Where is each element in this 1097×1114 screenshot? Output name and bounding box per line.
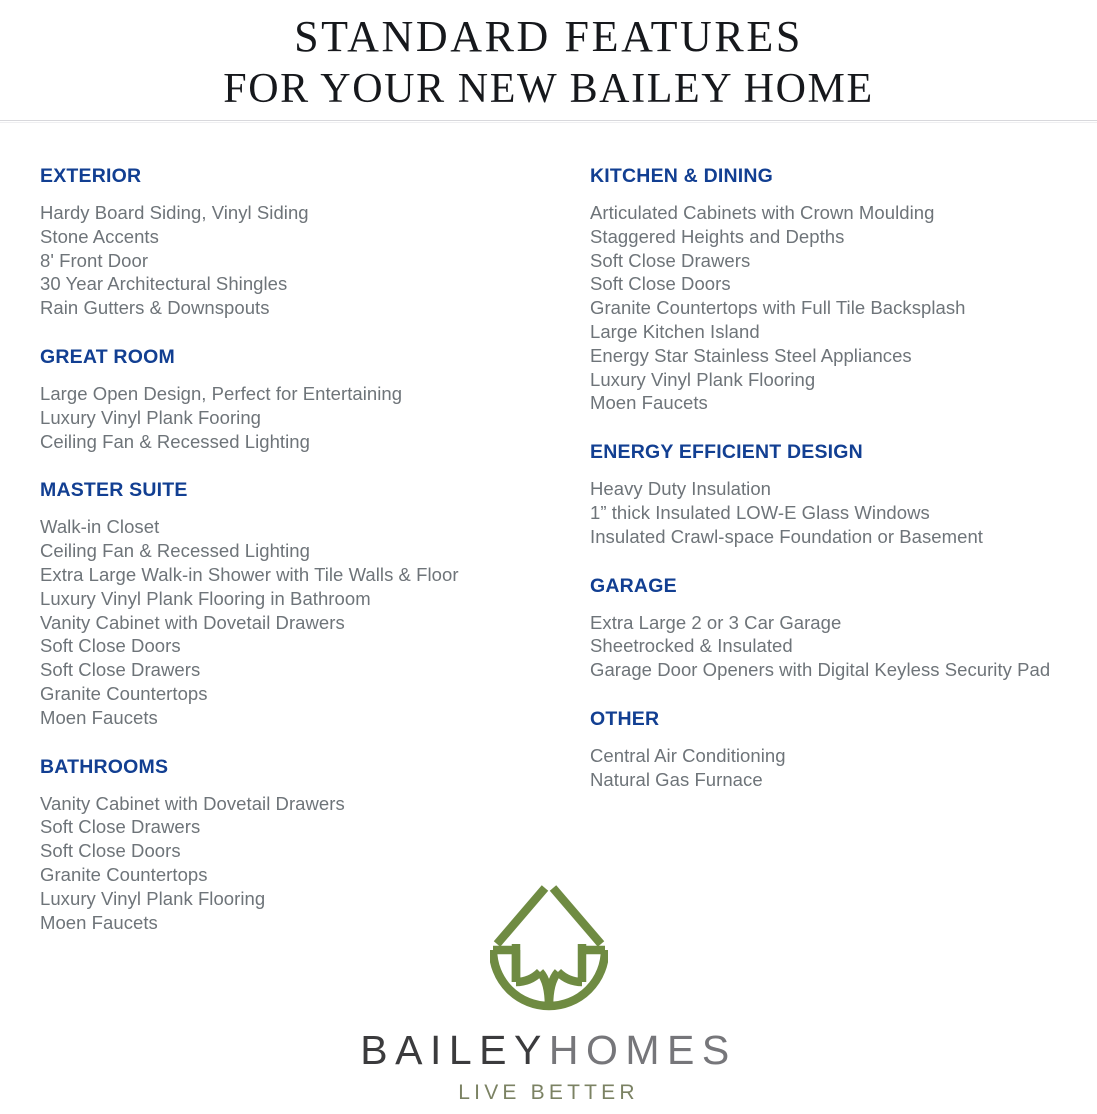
feature-section: MASTER SUITEWalk-in ClosetCeiling Fan & … xyxy=(40,479,570,729)
feature-item: Heavy Duty Insulation xyxy=(590,477,1080,501)
section-heading-exterior: EXTERIOR xyxy=(40,165,570,187)
feature-item: Soft Close Doors xyxy=(590,272,1080,296)
feature-item: Luxury Vinyl Plank Flooring in Bathroom xyxy=(40,587,570,611)
section-heading-energy-efficient-design: ENERGY EFFICIENT DESIGN xyxy=(590,441,1080,463)
feature-section: OTHERCentral Air ConditioningNatural Gas… xyxy=(590,708,1080,792)
feature-item: Central Air Conditioning xyxy=(590,744,1080,768)
feature-item: Soft Close Drawers xyxy=(590,249,1080,273)
section-heading-master-suite: MASTER SUITE xyxy=(40,479,570,501)
feature-list: Central Air ConditioningNatural Gas Furn… xyxy=(590,744,1080,792)
feature-item: Energy Star Stainless Steel Appliances xyxy=(590,344,1080,368)
bailey-homes-house-leaf-icon xyxy=(490,878,608,1014)
feature-item: Insulated Crawl-space Foundation or Base… xyxy=(590,525,1080,549)
feature-item: Luxury Vinyl Plank Flooring xyxy=(590,368,1080,392)
feature-item: Walk-in Closet xyxy=(40,515,570,539)
feature-item: Hardy Board Siding, Vinyl Siding xyxy=(40,201,570,225)
page-title-line-2: FOR YOUR NEW BAILEY HOME xyxy=(223,64,874,114)
feature-list: Large Open Design, Perfect for Entertain… xyxy=(40,382,570,453)
feature-section: GREAT ROOMLarge Open Design, Perfect for… xyxy=(40,346,570,453)
feature-item: Rain Gutters & Downspouts xyxy=(40,296,570,320)
feature-item: Garage Door Openers with Digital Keyless… xyxy=(590,658,1080,682)
section-heading-other: OTHER xyxy=(590,708,1080,730)
header-divider xyxy=(0,120,1097,121)
feature-item: 30 Year Architectural Shingles xyxy=(40,272,570,296)
section-heading-great-room: GREAT ROOM xyxy=(40,346,570,368)
feature-list: Extra Large 2 or 3 Car GarageSheetrocked… xyxy=(590,611,1080,682)
feature-item: Luxury Vinyl Plank Fooring xyxy=(40,406,570,430)
feature-section: EXTERIORHardy Board Siding, Vinyl Siding… xyxy=(40,165,570,320)
wordmark-bailey: BAILEY xyxy=(360,1028,549,1072)
features-column-left: EXTERIORHardy Board Siding, Vinyl Siding… xyxy=(40,165,570,934)
section-heading-bathrooms: BATHROOMS xyxy=(40,756,570,778)
feature-item: Stone Accents xyxy=(40,225,570,249)
feature-item: Large Kitchen Island xyxy=(590,320,1080,344)
feature-item: Extra Large Walk-in Shower with Tile Wal… xyxy=(40,563,570,587)
feature-list: Walk-in ClosetCeiling Fan & Recessed Lig… xyxy=(40,515,570,729)
feature-item: Moen Faucets xyxy=(590,391,1080,415)
page-title-line-1: STANDARD FEATURES xyxy=(294,12,803,62)
feature-item: Extra Large 2 or 3 Car Garage xyxy=(590,611,1080,635)
feature-item: Granite Countertops with Full Tile Backs… xyxy=(590,296,1080,320)
feature-item: 8' Front Door xyxy=(40,249,570,273)
feature-item: Moen Faucets xyxy=(40,706,570,730)
brand-wordmark: BAILEY HOMES xyxy=(360,1028,736,1072)
feature-item: Soft Close Drawers xyxy=(40,658,570,682)
brand-tagline: LIVE BETTER xyxy=(458,1081,638,1105)
feature-section: GARAGEExtra Large 2 or 3 Car GarageSheet… xyxy=(590,575,1080,682)
feature-item: Sheetrocked & Insulated xyxy=(590,634,1080,658)
feature-list: Heavy Duty Insulation1” thick Insulated … xyxy=(590,477,1080,548)
feature-item: Soft Close Doors xyxy=(40,634,570,658)
section-heading-garage: GARAGE xyxy=(590,575,1080,597)
feature-item: Soft Close Drawers xyxy=(40,815,570,839)
feature-item: Large Open Design, Perfect for Entertain… xyxy=(40,382,570,406)
feature-list: Hardy Board Siding, Vinyl SidingStone Ac… xyxy=(40,201,570,320)
wordmark-homes: HOMES xyxy=(549,1028,737,1072)
page-header: STANDARD FEATURES FOR YOUR NEW BAILEY HO… xyxy=(0,0,1097,121)
feature-item: Articulated Cabinets with Crown Moulding xyxy=(590,201,1080,225)
feature-item: Staggered Heights and Depths xyxy=(590,225,1080,249)
feature-item: Vanity Cabinet with Dovetail Drawers xyxy=(40,611,570,635)
feature-item: Ceiling Fan & Recessed Lighting xyxy=(40,430,570,454)
feature-item: Soft Close Doors xyxy=(40,839,570,863)
features-column-right: KITCHEN & DININGArticulated Cabinets wit… xyxy=(590,165,1080,792)
feature-item: Natural Gas Furnace xyxy=(590,768,1080,792)
feature-section: KITCHEN & DININGArticulated Cabinets wit… xyxy=(590,165,1080,415)
feature-item: 1” thick Insulated LOW-E Glass Windows xyxy=(590,501,1080,525)
feature-item: Vanity Cabinet with Dovetail Drawers xyxy=(40,792,570,816)
feature-item: Ceiling Fan & Recessed Lighting xyxy=(40,539,570,563)
section-heading-kitchen-dining: KITCHEN & DINING xyxy=(590,165,1080,187)
feature-section: ENERGY EFFICIENT DESIGNHeavy Duty Insula… xyxy=(590,441,1080,548)
header-divider-shadow xyxy=(0,122,1097,123)
brand-logo-block: BAILEY HOMES LIVE BETTER xyxy=(0,878,1097,1105)
feature-item: Granite Countertops xyxy=(40,682,570,706)
feature-list: Articulated Cabinets with Crown Moulding… xyxy=(590,201,1080,415)
